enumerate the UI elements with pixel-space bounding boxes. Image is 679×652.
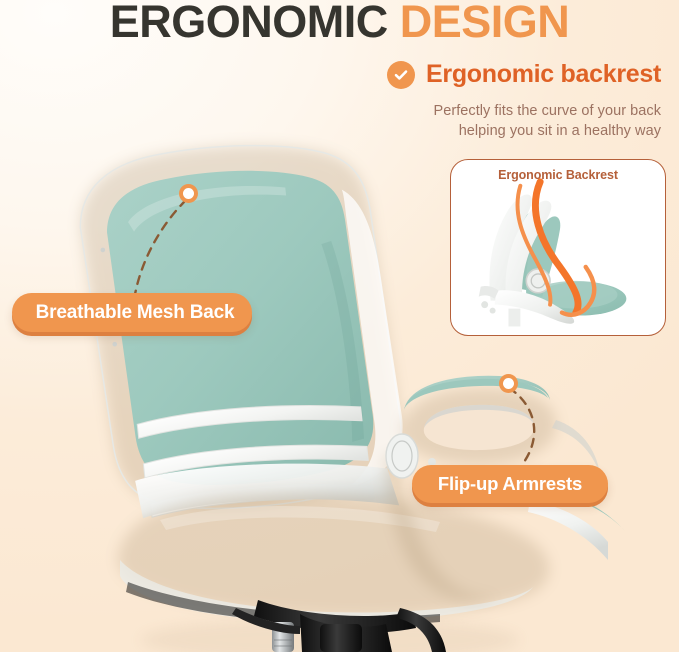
infographic-canvas: ERGONOMIC DESIGN Ergonomic backrest Perf…	[0, 0, 679, 652]
feature-subtitle-line-1: Perfectly fits the curve of your back	[361, 101, 661, 121]
backrest-side-view-diagram	[451, 160, 665, 335]
feature-subtitle: Perfectly fits the curve of your back he…	[361, 101, 661, 141]
page-title-primary: ERGONOMIC	[110, 0, 400, 47]
check-circle-icon	[387, 61, 415, 89]
marker-flip-up-armrests[interactable]	[499, 374, 518, 393]
feature-subtitle-line-2: helping you sit in a healthy way	[361, 121, 661, 141]
feature-title: Ergonomic backrest	[426, 60, 661, 89]
callout-breathable-mesh-back[interactable]: Breathable Mesh Back	[12, 293, 252, 332]
ergonomic-backrest-inset-card: Ergonomic Backrest	[450, 159, 666, 336]
marker-breathable-mesh-back[interactable]	[179, 184, 198, 203]
page-title: ERGONOMIC DESIGN	[0, 0, 679, 48]
feature-heading: Ergonomic backrest	[387, 60, 661, 89]
callout-flip-up-armrests[interactable]: Flip-up Armrests	[412, 465, 608, 503]
page-title-accent: DESIGN	[400, 0, 570, 47]
